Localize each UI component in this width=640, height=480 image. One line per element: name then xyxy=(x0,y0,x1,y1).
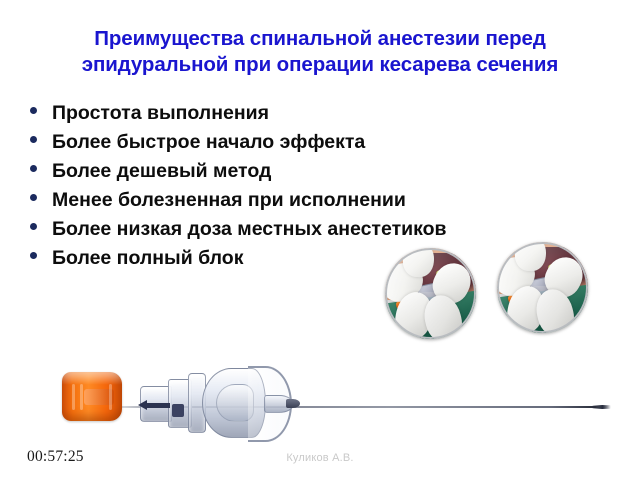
photo-gloss-overlay xyxy=(385,248,476,339)
list-item: Более быстрое начало эффекта xyxy=(30,128,550,157)
list-item-label: Более быстрое начало эффекта xyxy=(52,128,365,157)
page-title-line-2: эпидуральной при операции кесарева сечен… xyxy=(0,52,640,78)
advantages-list: Простота выполнения Более быстрое начало… xyxy=(30,99,550,273)
author-watermark: Куликов А.В. xyxy=(0,452,640,464)
bullet-dot-icon xyxy=(30,107,37,114)
needle-tip xyxy=(592,405,611,409)
list-item-label: Простота выполнения xyxy=(52,99,269,128)
list-item-label: Менее болезненная при исполнении xyxy=(52,186,406,215)
list-item-label: Более полный блок xyxy=(52,244,243,273)
list-item: Простота выполнения xyxy=(30,99,550,128)
bullet-dot-icon xyxy=(30,136,37,143)
needle-hub-rib xyxy=(80,384,83,410)
needle-direction-arrow-icon xyxy=(146,403,170,408)
slide-canvas: Преимущества спинальной анестезии перед … xyxy=(0,0,640,480)
list-item: Менее болезненная при исполнении xyxy=(30,186,550,215)
needle-hub-rib xyxy=(72,384,75,410)
bullet-dot-icon xyxy=(30,223,37,230)
photo-spinal-needle-insertion-1 xyxy=(385,248,476,339)
page-title-line-1: Преимущества спинальной анестезии перед xyxy=(0,26,640,52)
list-item: Более низкая доза местных анестетиков xyxy=(30,215,550,244)
bullet-dot-icon xyxy=(30,194,37,201)
photo-gloss-overlay xyxy=(497,242,588,333)
bullet-dot-icon xyxy=(30,165,37,172)
needle-orange-hub xyxy=(62,372,122,421)
list-item: Более дешевый метод xyxy=(30,157,550,186)
list-item-label: Более низкая доза местных анестетиков xyxy=(52,215,447,244)
page-title: Преимущества спинальной анестезии перед … xyxy=(0,26,640,78)
needle-notch-marker xyxy=(172,404,184,417)
photo-spinal-needle-insertion-2 xyxy=(497,242,588,333)
needle-end-knob xyxy=(286,399,300,408)
bullet-dot-icon xyxy=(30,252,37,259)
needle-hub-rib xyxy=(109,384,112,410)
list-item-label: Более дешевый метод xyxy=(52,157,271,186)
